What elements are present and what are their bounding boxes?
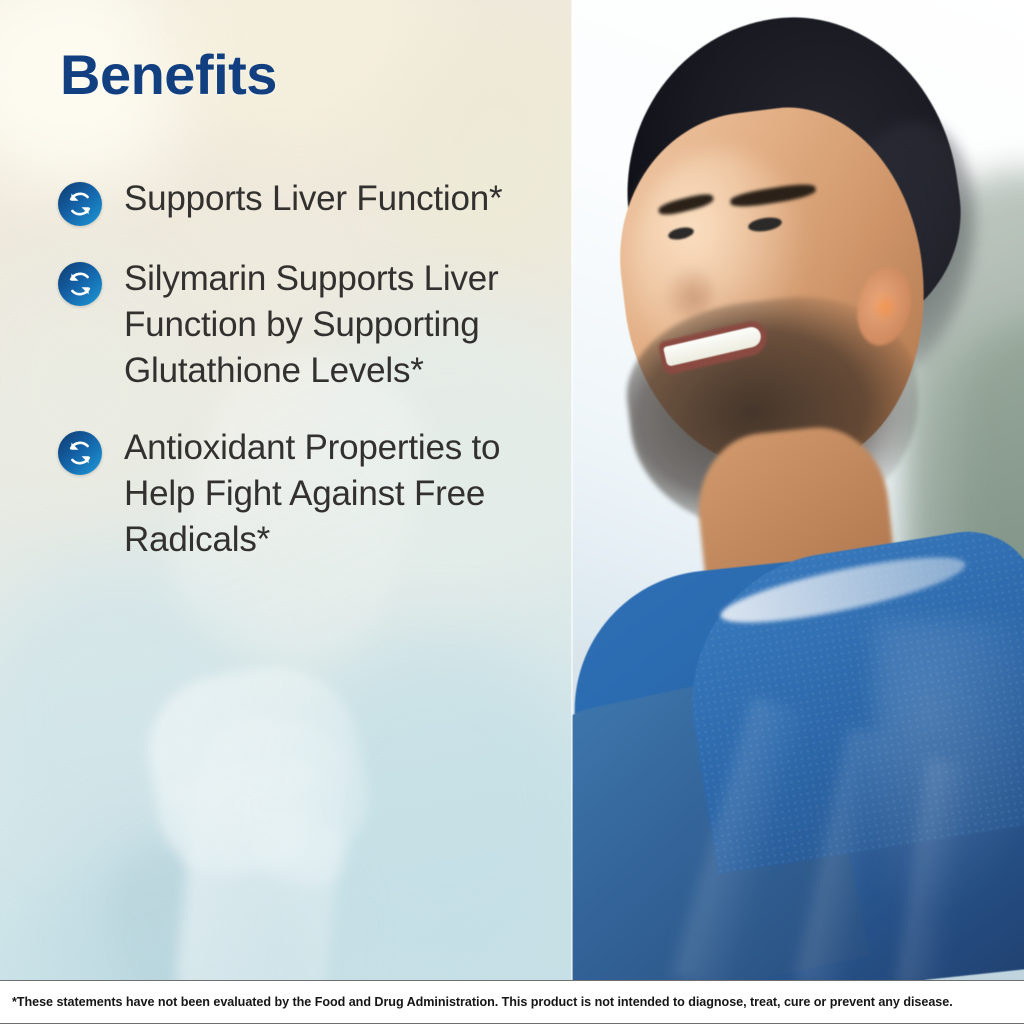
benefit-item: Antioxidant Properties to Help Fight Aga… <box>58 425 558 564</box>
refresh-cycle-icon <box>58 182 102 226</box>
product-benefits-graphic: Benefits Supports Liver Function* <box>0 0 1024 1024</box>
benefit-item: Silymarin Supports Liver Function by Sup… <box>58 256 558 395</box>
benefits-content: Benefits Supports Liver Function* <box>0 0 572 980</box>
lifestyle-photo <box>572 0 1024 980</box>
benefit-text: Silymarin Supports Liver Function by Sup… <box>124 256 558 395</box>
page-title: Benefits <box>60 46 277 105</box>
disclaimer-bar: *These statements have not been evaluate… <box>0 980 1024 1024</box>
panel-divider <box>571 0 573 980</box>
benefit-text: Antioxidant Properties to Help Fight Aga… <box>124 425 558 564</box>
shirt-highlight <box>872 620 1024 920</box>
refresh-cycle-icon <box>58 431 102 475</box>
benefit-item: Supports Liver Function* <box>58 176 558 226</box>
ear-backlight <box>872 292 898 322</box>
benefit-text: Supports Liver Function* <box>124 176 502 222</box>
nose <box>662 264 714 318</box>
benefits-list: Supports Liver Function* Silymarin Suppo… <box>58 176 558 593</box>
fda-disclaimer-text: *These statements have not been evaluate… <box>0 995 965 1009</box>
refresh-cycle-icon <box>58 262 102 306</box>
